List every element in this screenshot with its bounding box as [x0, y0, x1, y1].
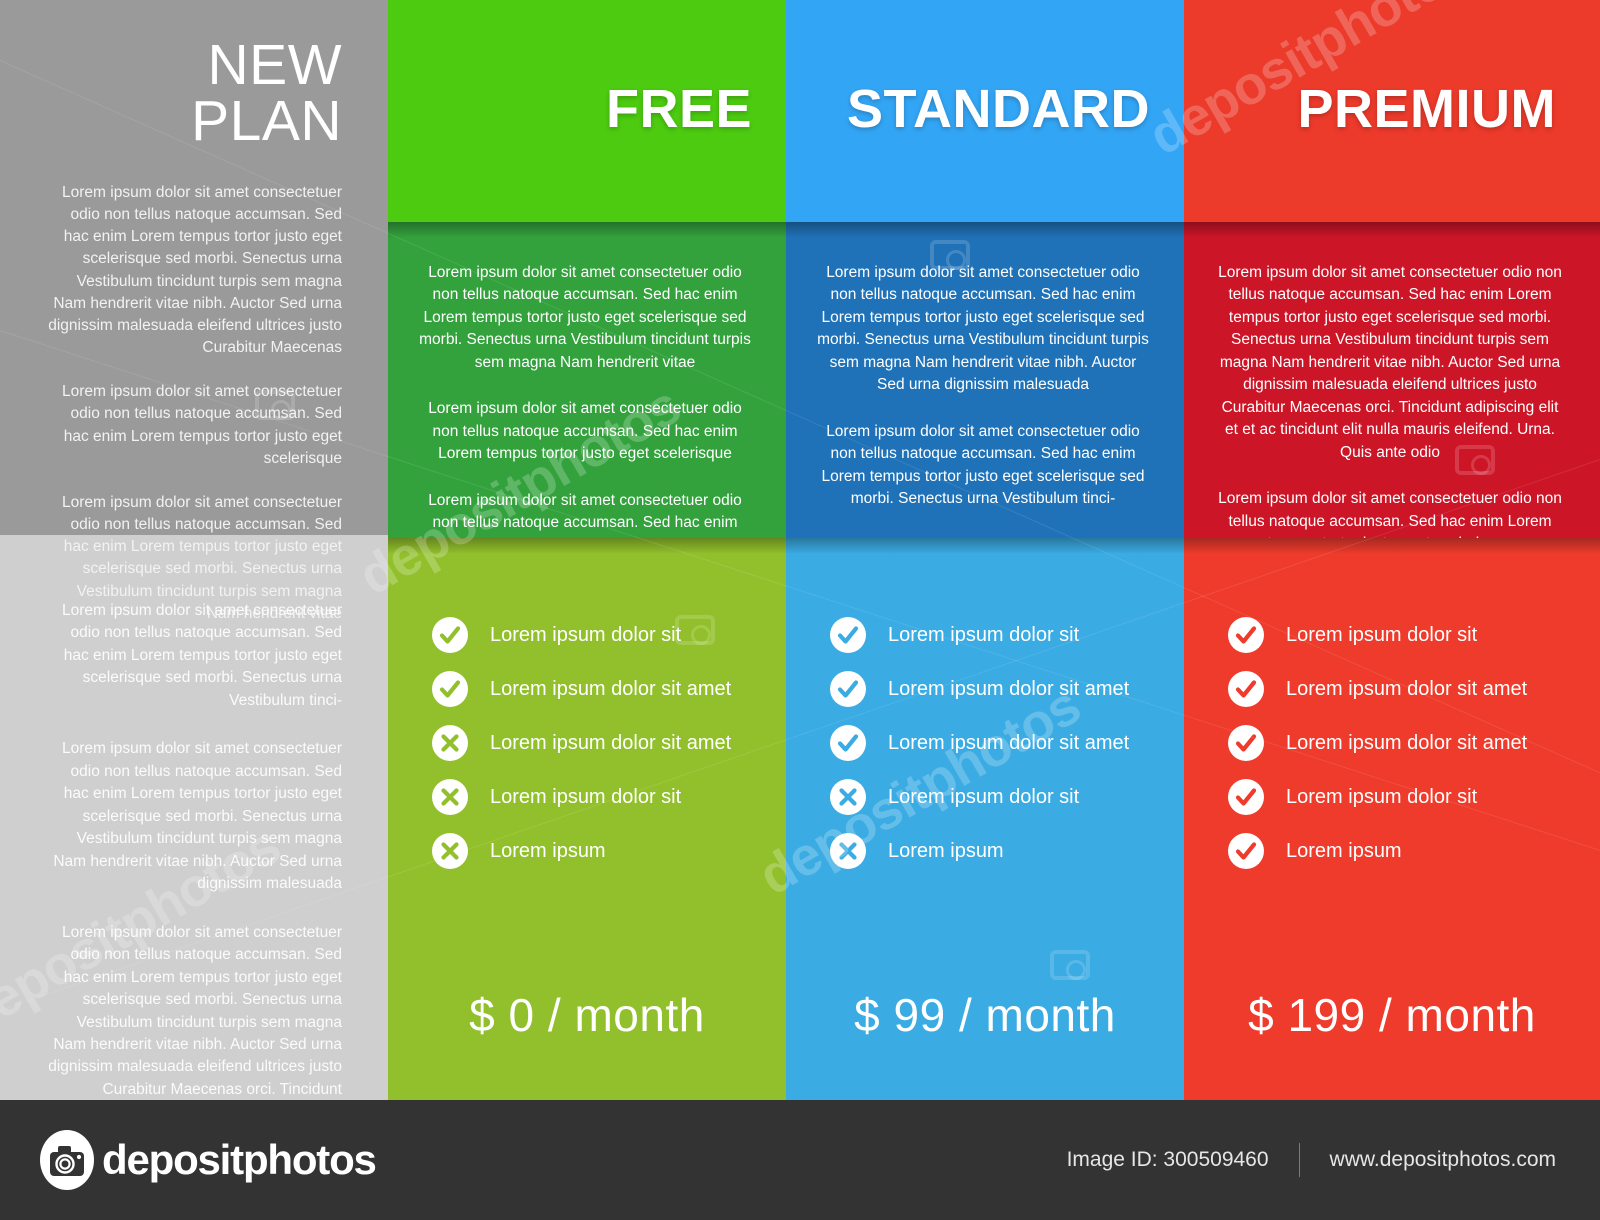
feature-label: Lorem ipsum dolor sit amet [1286, 679, 1527, 699]
feature-label: Lorem ipsum [490, 841, 606, 861]
intro-column: NEW PLAN Lorem ipsum dolor sit amet cons… [0, 0, 388, 1100]
cross-icon [830, 833, 866, 869]
plan-paragraph: Lorem ipsum dolor sit amet consectetuer … [816, 262, 1150, 397]
feature-list-free: Lorem ipsum dolor sit Lorem ipsum dolor … [432, 608, 756, 878]
feature-row[interactable]: Lorem ipsum dolor sit amet [830, 662, 1154, 716]
check-icon [830, 671, 866, 707]
feature-label: Lorem ipsum dolor sit [1286, 625, 1477, 645]
plan-title-standard: STANDARD [786, 78, 1150, 140]
feature-label: Lorem ipsum dolor sit amet [888, 679, 1129, 699]
feature-label: Lorem ipsum dolor sit [888, 625, 1079, 645]
feature-row[interactable]: Lorem ipsum [432, 824, 756, 878]
cross-icon [432, 725, 468, 761]
feature-row[interactable]: Lorem ipsum dolor sit amet [830, 716, 1154, 770]
plan-title-premium: PREMIUM [1184, 78, 1556, 140]
feature-label: Lorem ipsum dolor sit [490, 625, 681, 645]
image-id-label: Image ID: 300509460 [1067, 1148, 1269, 1172]
intro-title-line1: NEW [0, 38, 342, 94]
feature-label: Lorem ipsum dolor sit [888, 787, 1079, 807]
plan-paragraph: Lorem ipsum dolor sit amet consectetuer … [418, 398, 752, 465]
intro-lower-paragraph: Lorem ipsum dolor sit amet consectetuer … [46, 600, 342, 712]
brand-name: depositphotos [102, 1136, 376, 1184]
footer-bar: depositphotos Image ID: 300509460 www.de… [0, 1100, 1600, 1220]
feature-row[interactable]: Lorem ipsum dolor sit [432, 770, 756, 824]
intro-paragraphs: Lorem ipsum dolor sit amet consectetuer … [48, 182, 342, 647]
cross-icon [830, 779, 866, 815]
check-icon [830, 725, 866, 761]
feature-label: Lorem ipsum dolor sit [490, 787, 681, 807]
feature-label: Lorem ipsum [1286, 841, 1402, 861]
feature-label: Lorem ipsum dolor sit [1286, 787, 1477, 807]
plan-column-premium[interactable]: PREMIUM Lorem ipsum dolor sit amet conse… [1184, 0, 1600, 1100]
plan-feature-band-free: Lorem ipsum dolor sit Lorem ipsum dolor … [388, 538, 786, 1100]
website-link[interactable]: www.depositphotos.com [1330, 1148, 1556, 1172]
band-shadow [1184, 538, 1600, 554]
intro-paragraph: Lorem ipsum dolor sit amet consectetuer … [48, 182, 342, 359]
plan-price-standard: $ 99 / month [786, 988, 1184, 1042]
intro-title-line2: PLAN [0, 94, 342, 150]
intro-title: NEW PLAN [0, 38, 342, 150]
feature-row[interactable]: Lorem ipsum dolor sit [1228, 608, 1570, 662]
feature-row[interactable]: Lorem ipsum dolor sit amet [1228, 662, 1570, 716]
intro-lower-paragraph: Lorem ipsum dolor sit amet consectetuer … [46, 738, 342, 895]
plan-column-standard[interactable]: STANDARD Lorem ipsum dolor sit amet cons… [786, 0, 1184, 1100]
check-icon [1228, 617, 1264, 653]
check-icon [830, 617, 866, 653]
camera-icon [38, 1128, 96, 1192]
feature-label: Lorem ipsum dolor sit amet [490, 679, 731, 699]
plan-paragraph: Lorem ipsum dolor sit amet consectetuer … [418, 262, 752, 374]
cross-icon [432, 779, 468, 815]
feature-label: Lorem ipsum [888, 841, 1004, 861]
pricing-table-graphic: NEW PLAN Lorem ipsum dolor sit amet cons… [0, 0, 1600, 1220]
feature-row[interactable]: Lorem ipsum [830, 824, 1154, 878]
plan-desc-band-free: Lorem ipsum dolor sit amet consectetuer … [388, 222, 786, 538]
check-icon [1228, 833, 1264, 869]
feature-row[interactable]: Lorem ipsum dolor sit [830, 608, 1154, 662]
check-icon [1228, 671, 1264, 707]
intro-paragraph: Lorem ipsum dolor sit amet consectetuer … [48, 381, 342, 470]
plan-feature-band-standard: Lorem ipsum dolor sit Lorem ipsum dolor … [786, 538, 1184, 1100]
feature-row[interactable]: Lorem ipsum dolor sit [830, 770, 1154, 824]
feature-row[interactable]: Lorem ipsum dolor sit [432, 608, 756, 662]
feature-label: Lorem ipsum dolor sit amet [1286, 733, 1527, 753]
plan-paragraph: Lorem ipsum dolor sit amet consectetuer … [1214, 262, 1566, 464]
cross-icon [432, 833, 468, 869]
plan-price-premium: $ 199 / month [1184, 988, 1600, 1042]
plan-desc-band-standard: Lorem ipsum dolor sit amet consectetuer … [786, 222, 1184, 538]
plan-header-band-premium: PREMIUM [1184, 0, 1600, 222]
brand-logo[interactable]: depositphotos [38, 1128, 376, 1192]
feature-list-premium: Lorem ipsum dolor sit Lorem ipsum dolor … [1228, 608, 1570, 878]
check-icon [432, 617, 468, 653]
band-shadow [388, 538, 786, 554]
footer-meta: Image ID: 300509460 www.depositphotos.co… [1067, 1143, 1556, 1177]
feature-label: Lorem ipsum dolor sit amet [888, 733, 1129, 753]
footer-divider [1299, 1143, 1300, 1177]
band-shadow [388, 222, 786, 238]
band-shadow [786, 222, 1184, 238]
check-icon [432, 671, 468, 707]
feature-row[interactable]: Lorem ipsum dolor sit amet [432, 716, 756, 770]
plan-title-free: FREE [388, 78, 752, 140]
feature-row[interactable]: Lorem ipsum dolor sit amet [432, 662, 756, 716]
feature-row[interactable]: Lorem ipsum dolor sit [1228, 770, 1570, 824]
plan-header-band-free: FREE [388, 0, 786, 222]
band-shadow [1184, 222, 1600, 238]
band-shadow [786, 538, 1184, 554]
plan-column-free[interactable]: FREE Lorem ipsum dolor sit amet consecte… [388, 0, 786, 1100]
check-icon [1228, 725, 1264, 761]
plan-desc-band-premium: Lorem ipsum dolor sit amet consectetuer … [1184, 222, 1600, 538]
plan-price-free: $ 0 / month [388, 988, 786, 1042]
feature-list-standard: Lorem ipsum dolor sit Lorem ipsum dolor … [830, 608, 1154, 878]
plan-feature-band-premium: Lorem ipsum dolor sit Lorem ipsum dolor … [1184, 538, 1600, 1100]
check-icon [1228, 779, 1264, 815]
plan-paragraph: Lorem ipsum dolor sit amet consectetuer … [816, 421, 1150, 511]
plan-header-band-standard: STANDARD [786, 0, 1184, 222]
feature-row[interactable]: Lorem ipsum dolor sit amet [1228, 716, 1570, 770]
feature-label: Lorem ipsum dolor sit amet [490, 733, 731, 753]
pricing-board: NEW PLAN Lorem ipsum dolor sit amet cons… [0, 0, 1600, 1100]
plan-description-premium: Lorem ipsum dolor sit amet consectetuer … [1214, 262, 1566, 580]
feature-row[interactable]: Lorem ipsum [1228, 824, 1570, 878]
